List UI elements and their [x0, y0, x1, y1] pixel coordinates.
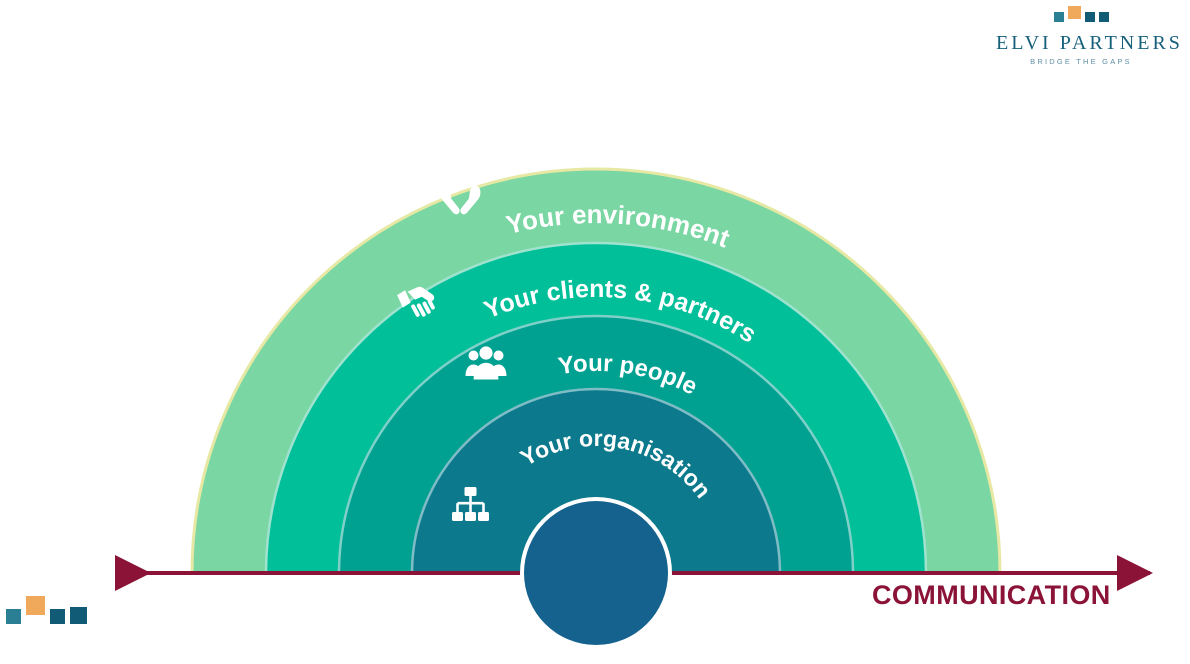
deco-navy-square-1: [50, 609, 65, 624]
core-circle[interactable]: [524, 501, 668, 645]
deco-orange-square: [26, 596, 45, 615]
deco-navy-square-2: [70, 607, 87, 624]
footer-square-decoration: [6, 596, 87, 624]
communication-label: COMMUNICATION: [872, 580, 1111, 611]
deco-teal-square: [6, 609, 21, 624]
slide-canvas: ELVI PARTNERS BRIDGE THE GAPS: [0, 0, 1190, 664]
concentric-rings-diagram: Your environment Your clients & partners…: [0, 0, 1190, 664]
